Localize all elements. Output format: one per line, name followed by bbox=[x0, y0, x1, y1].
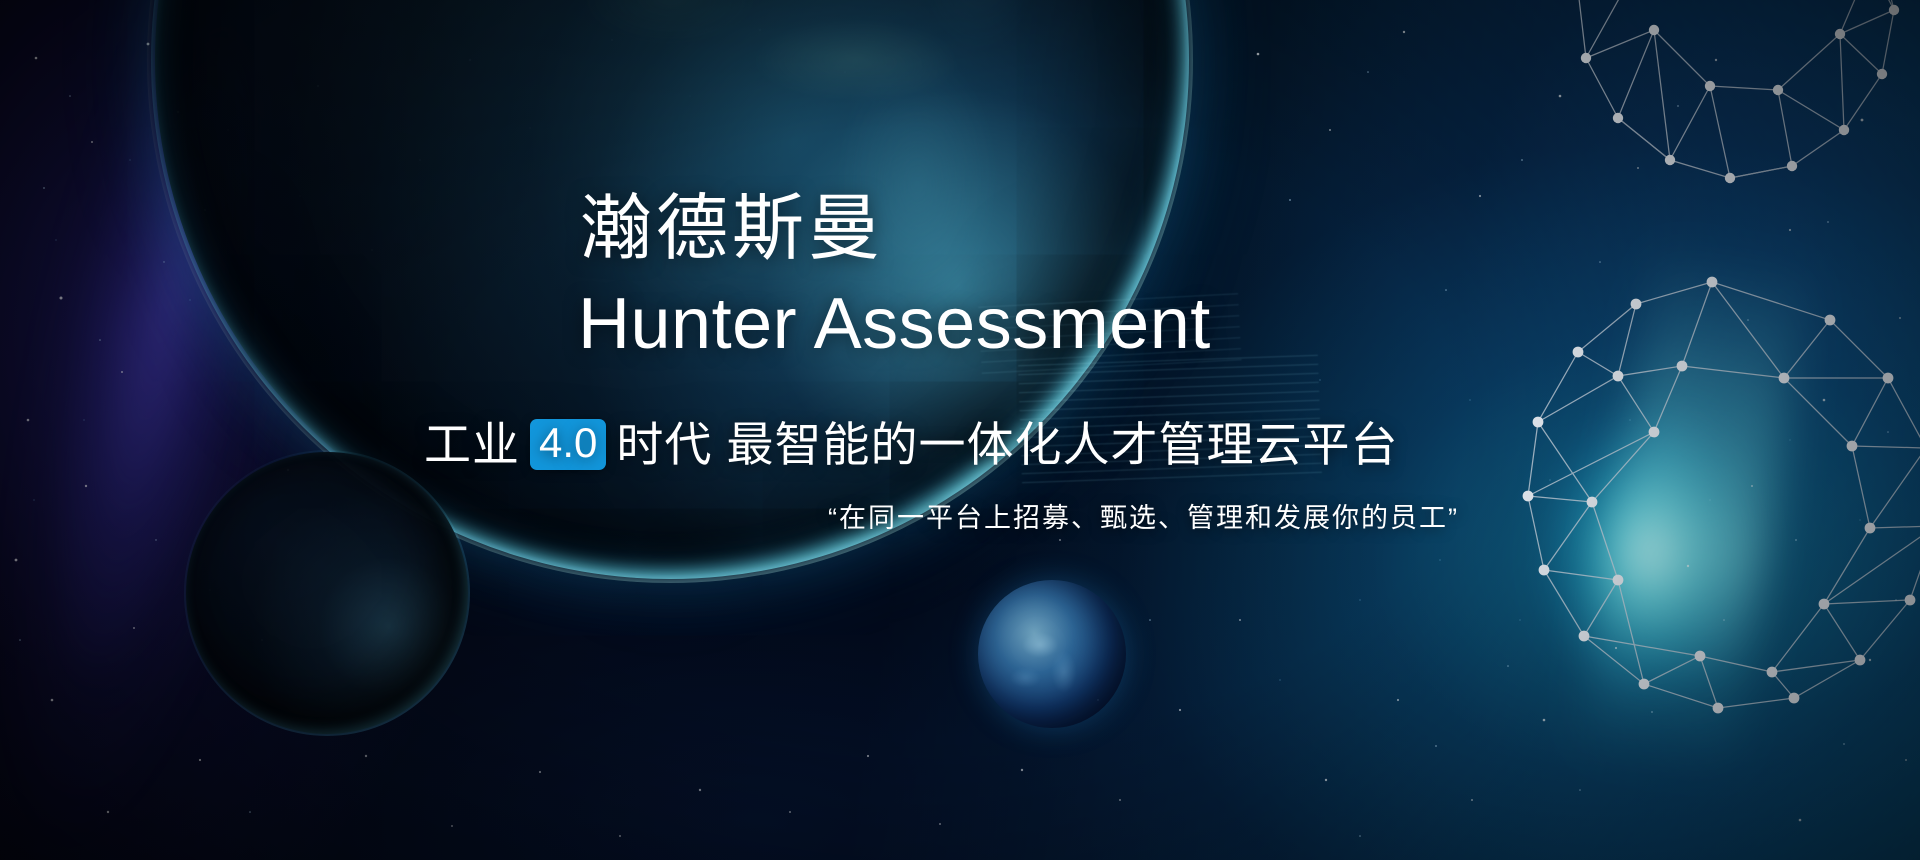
tagline-quote: “在同一平台上招募、甄选、管理和发展你的员工” bbox=[828, 505, 1459, 532]
brand-title-en: Hunter Assessment bbox=[578, 288, 1211, 360]
brand-title-cn: 瀚德斯曼 bbox=[580, 193, 884, 265]
tagline-prefix: 工业 bbox=[424, 421, 520, 468]
hero-copy-block: 瀚德斯曼 Hunter Assessment 工业 4.0 时代 最智能的一体化… bbox=[0, 0, 1920, 860]
industry-version-badge: 4.0 bbox=[530, 419, 606, 470]
hero-banner: 瀚德斯曼 Hunter Assessment 工业 4.0 时代 最智能的一体化… bbox=[0, 0, 1920, 860]
tagline-suffix: 时代 最智能的一体化人才管理云平台 bbox=[616, 421, 1398, 468]
tagline: 工业 4.0 时代 最智能的一体化人才管理云平台 bbox=[424, 419, 1398, 470]
